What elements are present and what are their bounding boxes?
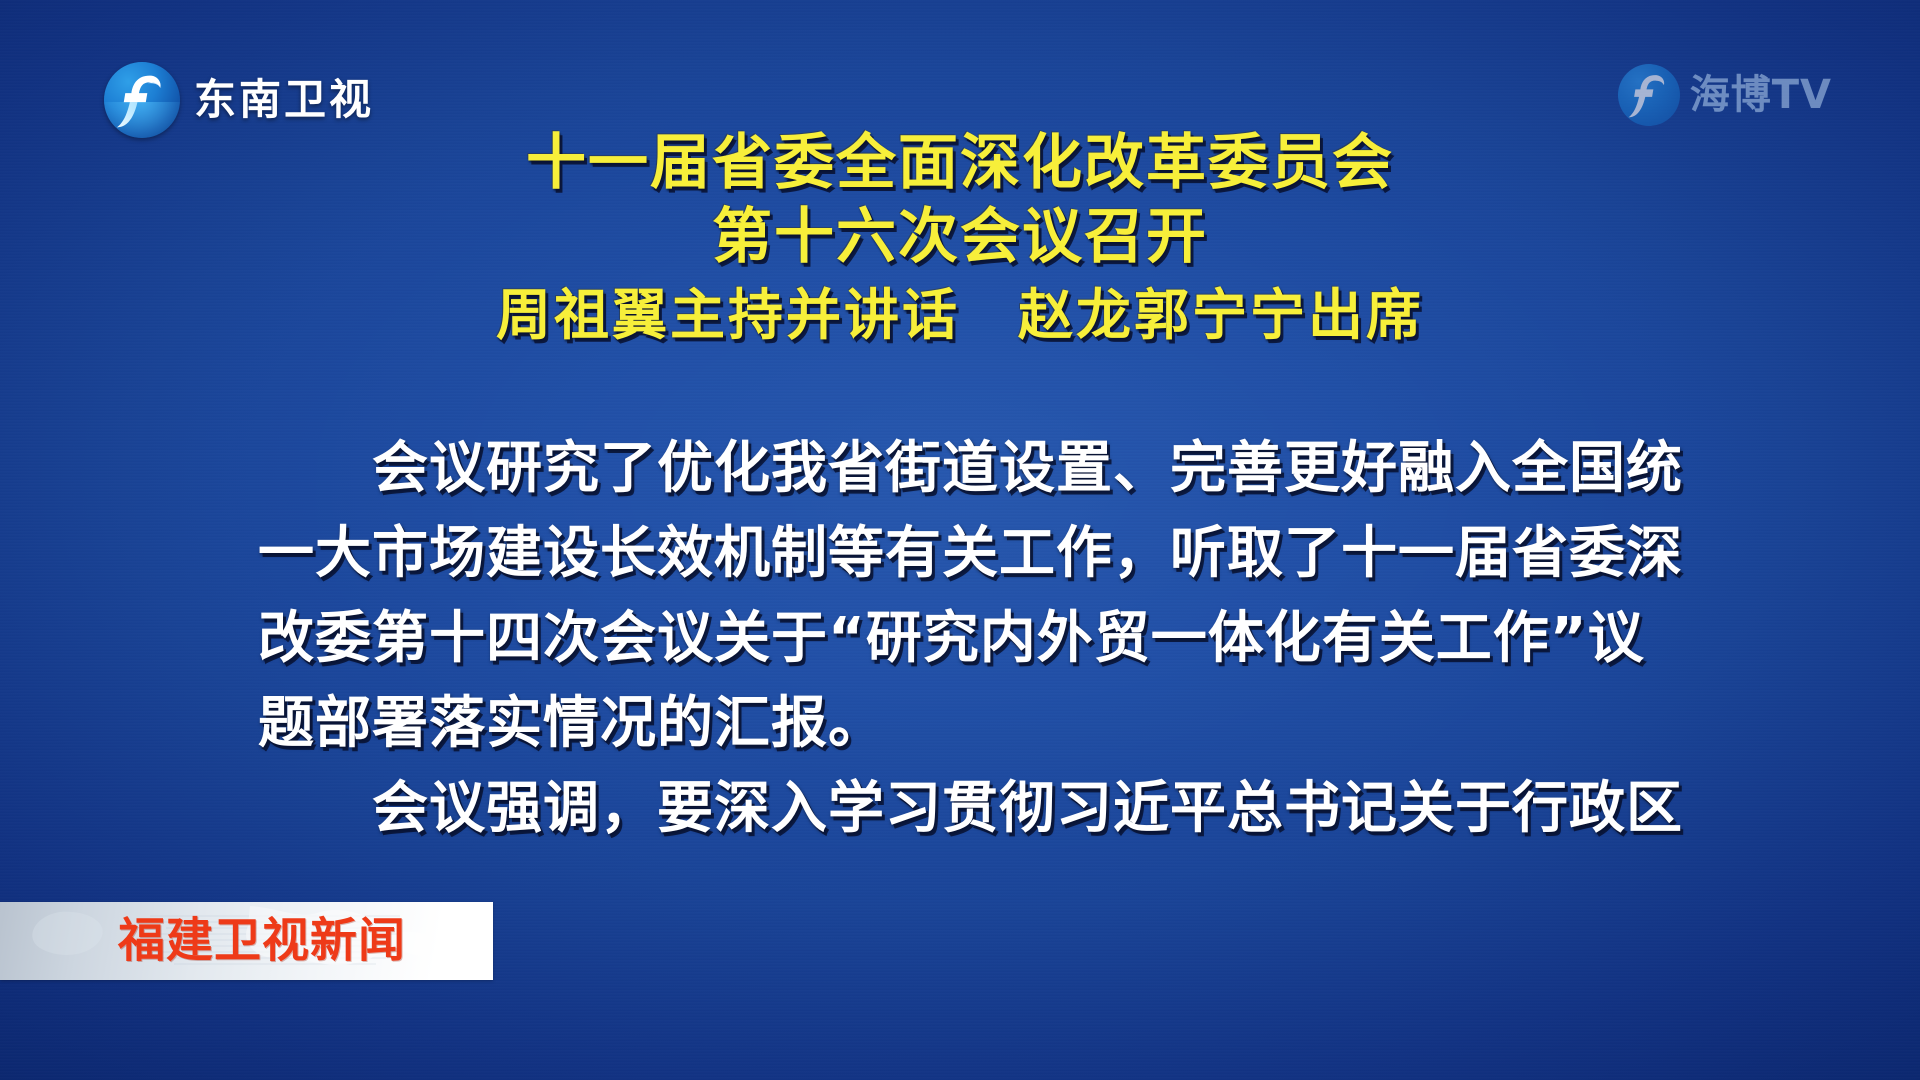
body-line: 题部署落实情况的汇报。 (258, 681, 1678, 766)
program-banner: 福建卫视新闻 (0, 902, 493, 980)
body-line: 会议强调，要深入学习贯彻习近平总书记关于行政区 (258, 766, 1678, 851)
channel-name-label: 东南卫视 (194, 79, 374, 121)
headline-line-2: 第十六次会议召开 (0, 200, 1920, 274)
body-line: 会议研究了优化我省街道设置、完善更好融入全国统 (258, 426, 1678, 511)
headline-line-1: 十一届省委全面深化改革委员会 (0, 126, 1920, 200)
body-line: 改委第十四次会议关于“研究内外贸一体化有关工作”议 (258, 596, 1678, 681)
body-copy-block: 会议研究了优化我省街道设置、完善更好融入全国统 一大市场建设长效机制等有关工作，… (258, 426, 1678, 851)
headline-block: 十一届省委全面深化改革委员会 第十六次会议召开 周祖翼主持并讲话 赵龙郭宁宁出席 (0, 126, 1920, 356)
program-title-label: 福建卫视新闻 (118, 918, 406, 965)
broadcast-news-screen: 东南卫视 海博TV 十一届省委全面深化改革委员会 第十六次会议召开 周祖翼主持并… (0, 0, 1920, 1080)
headline-subtitle: 周祖翼主持并讲话 赵龙郭宁宁出席 (0, 274, 1920, 356)
haibo-f-logo-icon (1618, 64, 1680, 126)
stylized-f-glyph-icon (1618, 64, 1680, 126)
body-line: 一大市场建设长效机制等有关工作，听取了十一届省委深 (258, 511, 1678, 596)
haibo-tv-watermark: 海博TV (1618, 64, 1832, 126)
watermark-label: 海博TV (1690, 75, 1832, 115)
